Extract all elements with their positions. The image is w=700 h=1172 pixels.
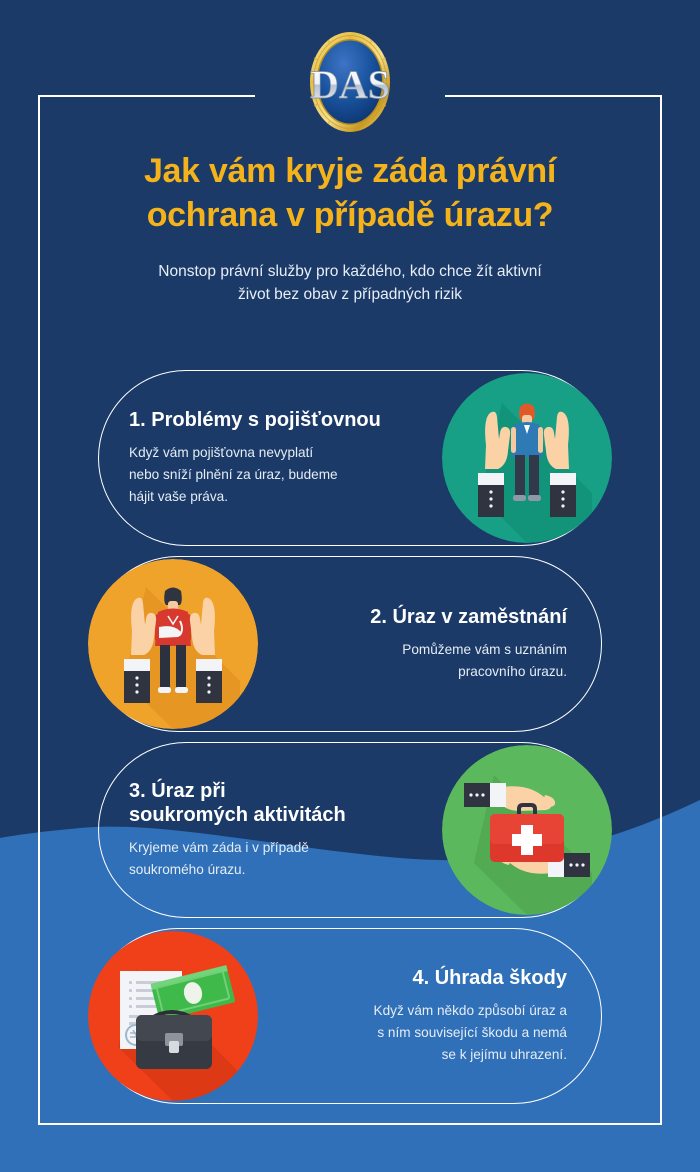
hands-protecting-person-icon (442, 373, 612, 543)
card-text-1: Když vám pojišťovna nevyplatí nebo sníží… (129, 442, 422, 508)
card-item-3[interactable]: 3. Úraz při soukromých aktivitách Kryjem… (98, 742, 610, 918)
document-money-briefcase-icon (88, 931, 258, 1101)
logo-text: DAS (310, 62, 390, 107)
card-body-3: 3. Úraz při soukromých aktivitách Kryjem… (99, 779, 442, 882)
hands-holding-first-aid-kit-icon (442, 745, 612, 915)
card-text-1-line-3: hájit vaše práva. (129, 486, 422, 508)
card-item-4[interactable]: 4. Úhrada škody Když vám někdo způsobí ú… (90, 928, 602, 1104)
card-text-1-line-2: nebo sníží plnění za úraz, budeme (129, 464, 422, 486)
subtitle-line-1: Nonstop právní služby pro každého, kdo c… (0, 261, 700, 284)
card-text-3: Kryjeme vám záda i v případě soukromého … (129, 837, 422, 881)
card-body-4: 4. Úhrada škody Když vám někdo způsobí ú… (258, 966, 601, 1066)
card-text-3-line-2: soukromého úrazu. (129, 859, 422, 881)
card-text-4-line-2: s ním související škodu a nemá (278, 1022, 567, 1044)
header: Jak vám kryje záda právní ochrana v příp… (0, 150, 700, 307)
subtitle-line-2: život bez obav z případných rizik (0, 284, 700, 307)
card-title-3-line-2: soukromých aktivitách (129, 803, 422, 827)
card-text-1-line-1: Když vám pojišťovna nevyplatí (129, 442, 422, 464)
hands-protecting-injured-worker-icon (88, 559, 258, 729)
card-item-2[interactable]: 2. Úraz v zaměstnání Pomůžeme vám s uzná… (90, 556, 602, 732)
card-text-4-line-1: Když vám někdo způsobí úraz a (278, 1000, 567, 1022)
card-text-3-line-1: Kryjeme vám záda i v případě (129, 837, 422, 859)
das-logo: DAS (298, 28, 402, 136)
page-subtitle: Nonstop právní služby pro každého, kdo c… (0, 261, 700, 307)
page-title: Jak vám kryje záda právní ochrana v příp… (0, 150, 700, 237)
card-title-3-line-1: 3. Úraz při (129, 779, 422, 803)
card-title-2: 2. Úraz v zaměstnání (278, 605, 567, 629)
cards-list: 1. Problémy s pojišťovnou Když vám pojiš… (0, 370, 700, 1114)
card-title-4: 4. Úhrada škody (278, 966, 567, 990)
card-title-3: 3. Úraz při soukromých aktivitách (129, 779, 422, 828)
card-text-4: Když vám někdo způsobí úraz a s ním souv… (278, 1000, 567, 1066)
title-line-2: ochrana v případě úrazu? (0, 194, 700, 238)
card-text-2-line-1: Pomůžeme vám s uznáním (278, 639, 567, 661)
card-text-2-line-2: pracovního úrazu. (278, 661, 567, 683)
card-body-1: 1. Problémy s pojišťovnou Když vám pojiš… (99, 408, 442, 508)
title-line-1: Jak vám kryje záda právní (0, 150, 700, 194)
card-body-2: 2. Úraz v zaměstnání Pomůžeme vám s uzná… (258, 605, 601, 683)
card-item-1[interactable]: 1. Problémy s pojišťovnou Když vám pojiš… (98, 370, 610, 546)
card-title-1: 1. Problémy s pojišťovnou (129, 408, 422, 432)
card-text-2: Pomůžeme vám s uznáním pracovního úrazu. (278, 639, 567, 683)
card-text-4-line-3: se k jejímu uhrazení. (278, 1044, 567, 1066)
